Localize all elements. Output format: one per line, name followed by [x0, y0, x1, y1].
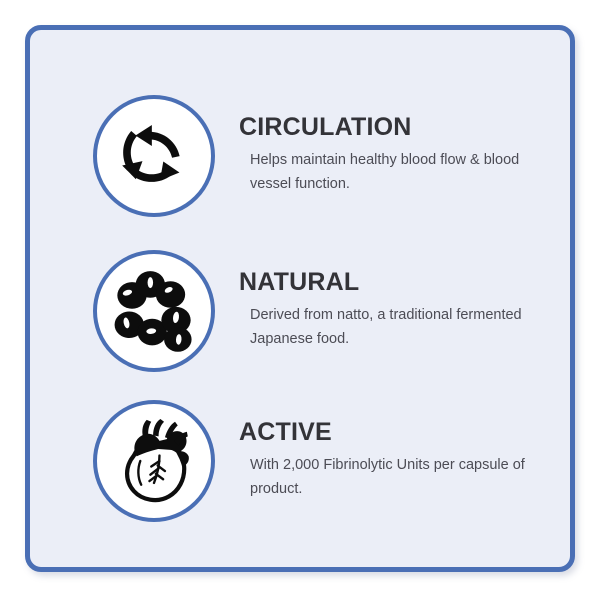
circulation-arrows-icon: [111, 113, 197, 199]
feature-description: Helps maintain healthy blood flow & bloo…: [239, 149, 530, 196]
feature-row: NATURAL Derived from natto, a traditiona…: [93, 246, 553, 376]
feature-card-screenshot: CIRCULATION Helps maintain healthy blood…: [0, 0, 600, 600]
feature-row: CIRCULATION Helps maintain healthy blood…: [93, 91, 553, 221]
feature-text: CIRCULATION Helps maintain healthy blood…: [215, 114, 553, 198]
icon-circle-natural: [93, 250, 215, 372]
icon-circle-circulation: [93, 95, 215, 217]
feature-title: CIRCULATION: [239, 114, 553, 140]
feature-list: CIRCULATION Helps maintain healthy blood…: [30, 30, 570, 567]
feature-description: With 2,000 Fibrinolytic Units per capsul…: [239, 454, 530, 501]
feature-panel: CIRCULATION Helps maintain healthy blood…: [25, 25, 575, 572]
feature-row: ACTIVE With 2,000 Fibrinolytic Units per…: [93, 396, 553, 526]
feature-title: NATURAL: [239, 269, 553, 295]
feature-title: ACTIVE: [239, 419, 553, 445]
feature-text: NATURAL Derived from natto, a traditiona…: [215, 269, 553, 353]
feature-text: ACTIVE With 2,000 Fibrinolytic Units per…: [215, 419, 553, 503]
feature-description: Derived from natto, a traditional fermen…: [239, 304, 530, 351]
icon-circle-active: [93, 400, 215, 522]
anatomical-heart-icon: [112, 415, 196, 507]
soybeans-icon: [108, 267, 200, 355]
